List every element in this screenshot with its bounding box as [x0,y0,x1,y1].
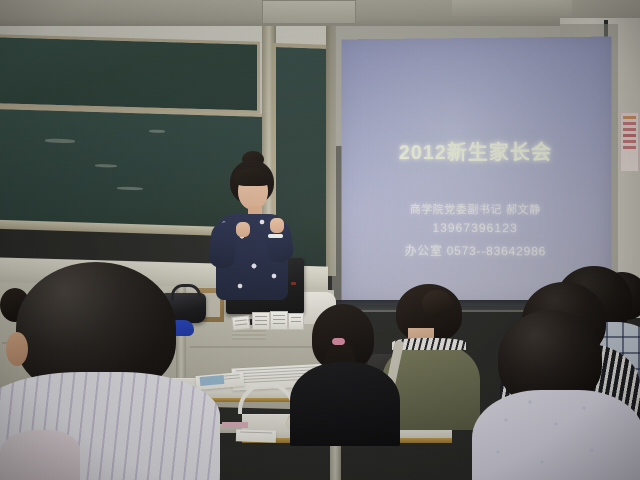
slide-presenter-line: 商学院党委副书记 郝文静 [342,201,612,218]
presenter-bracelet [268,234,283,238]
presenter-fringe [234,168,272,186]
audience-girl-ponytail [296,304,406,444]
presenter-right-hand [270,218,284,233]
audience-man-dotted [498,310,640,480]
desk-leg [330,440,341,480]
ceiling-light-panel [262,0,356,24]
audience-torso [290,362,400,446]
slide-office-number: 办公室 0573--83642986 [342,241,612,260]
audience-torso [472,390,640,480]
handout-papers [236,429,276,442]
classroom-photo: 2012新生家长会 商学院党委副书记 郝文静 13967396123 办公室 0… [0,0,640,480]
audience-ear [6,332,28,366]
slide-title: 2012新生家长会 [342,136,612,165]
presenter-left-hand [236,222,250,237]
hair-tie [332,338,345,345]
wall-notice-poster [620,112,639,172]
slide-mobile-number: 13967396123 [342,220,612,235]
audience-hair-bun [422,290,452,316]
ceiling-light-panel-secondary [452,0,572,16]
chalkboard-upper [0,34,260,113]
audience-shoulder-foreground [0,430,80,480]
